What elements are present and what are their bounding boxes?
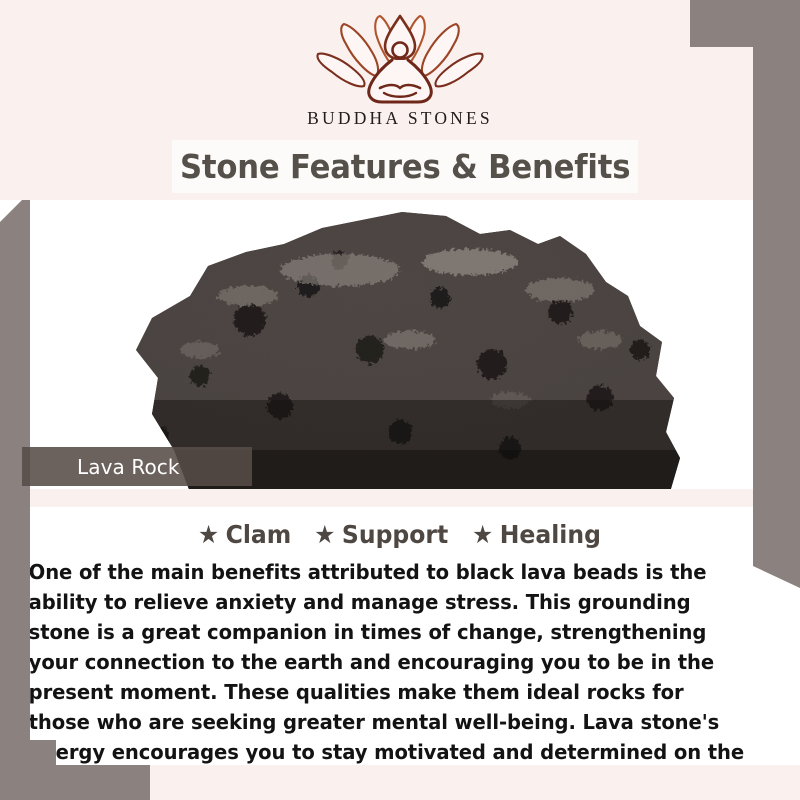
title-banner: Stone Features & Benefits: [172, 140, 638, 193]
star-icon: ★: [472, 522, 493, 547]
feature-label: Clam: [225, 520, 291, 549]
header-region: BUDDHA STONES Stone Features & Benefits: [0, 0, 800, 200]
body-region: ★ Clam ★ Support ★ Healing One of the ma…: [0, 507, 800, 765]
feature-item: ★ Support: [314, 520, 448, 549]
brand-name: BUDDHA STONES: [307, 108, 493, 129]
features-row: ★ Clam ★ Support ★ Healing: [0, 507, 800, 549]
feature-label: Support: [342, 520, 448, 549]
lotus-meditation-figure-icon: [314, 14, 486, 106]
frame-border-right: [753, 0, 800, 588]
feature-item: ★ Healing: [472, 520, 601, 549]
page-title: Stone Features & Benefits: [180, 147, 630, 186]
star-icon: ★: [198, 522, 219, 547]
feature-label: Healing: [500, 520, 601, 549]
stone-label-bar: Lava Rock: [22, 447, 252, 486]
star-icon: ★: [314, 522, 335, 547]
frame-border-left: [0, 200, 30, 800]
stone-label-text: Lava Rock: [22, 455, 180, 479]
cream-divider-strip: [0, 489, 800, 507]
poster-root: Lava Rock: [0, 0, 800, 800]
description-paragraph: One of the main benefits attributed to b…: [0, 557, 764, 797]
brand-logo-block: BUDDHA STONES: [0, 14, 800, 129]
feature-item: ★ Clam: [198, 520, 291, 549]
frame-border-bottom-left: [0, 740, 56, 800]
